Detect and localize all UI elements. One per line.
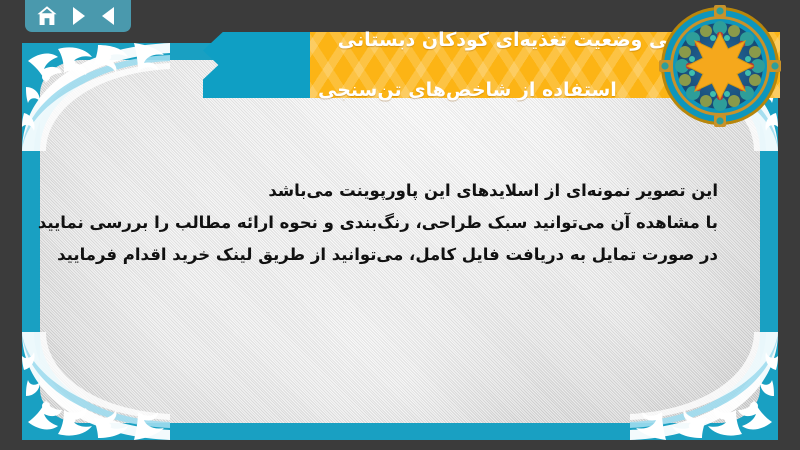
slide-navigation-bar [25,0,131,32]
home-button[interactable] [35,5,59,27]
triangle-left-icon [97,4,121,28]
slide-viewer: این تصویر نمونه‌ای از اسلایدهای این پاور… [0,0,800,450]
previous-slide-button[interactable] [97,5,121,27]
home-icon [35,4,59,28]
next-slide-button[interactable] [66,5,90,27]
body-line-2: با مشاهده آن می‌توانید سبک طراحی، رنگ‌بن… [82,207,718,239]
body-line-3: در صورت تمایل به دریافت فایل کامل، می‌تو… [82,239,718,271]
body-line-1: این تصویر نمونه‌ای از اسلایدهای این پاور… [82,175,718,207]
slide-frame: این تصویر نمونه‌ای از اسلایدهای این پاور… [22,43,778,440]
triangle-right-icon [66,4,90,28]
slide-body-text: این تصویر نمونه‌ای از اسلایدهای این پاور… [82,175,718,272]
